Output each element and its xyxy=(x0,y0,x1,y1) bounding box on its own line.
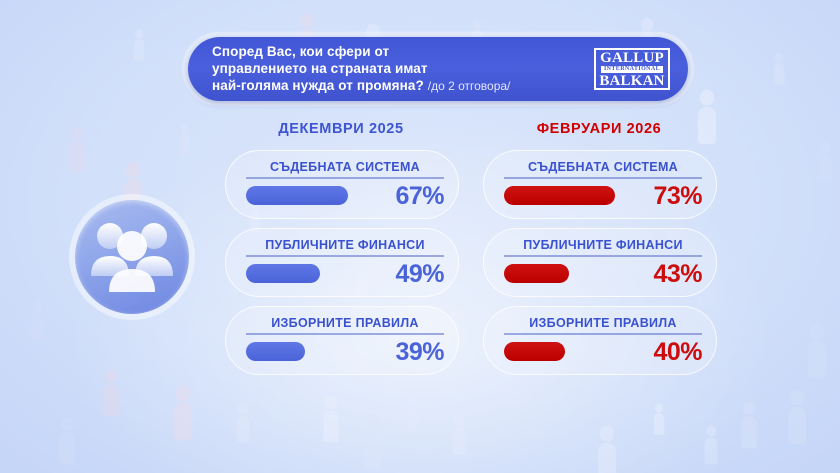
stat-card-row: 43% xyxy=(504,263,702,285)
people-group-icon xyxy=(75,200,189,314)
person-silhouette xyxy=(30,301,43,340)
person-silhouette xyxy=(103,370,119,417)
person-silhouette xyxy=(69,126,85,173)
person-silhouette xyxy=(654,403,665,435)
stat-card-divider xyxy=(246,333,444,335)
person-silhouette xyxy=(364,414,382,468)
stat-bar xyxy=(246,342,305,361)
person-silhouette xyxy=(408,397,419,429)
stat-value: 73% xyxy=(653,185,702,207)
stat-card-label: ИЗБОРНИТЕ ПРАВИЛА xyxy=(504,316,702,330)
stat-card-row: 40% xyxy=(504,341,702,363)
column-header-right: ФЕВРУАРИ 2026 xyxy=(483,121,715,137)
stat-bar xyxy=(504,264,569,283)
stat-card-right-2: ПУБЛИЧНИТЕ ФИНАНСИ43% xyxy=(483,228,717,297)
stat-value: 67% xyxy=(395,185,444,207)
person-silhouette xyxy=(452,415,465,454)
stat-card-divider xyxy=(504,255,702,257)
question-banner: Според Вас, кои сфери от управлението на… xyxy=(188,37,688,101)
infographic-slide: Според Вас, кои сфери от управлението на… xyxy=(0,0,840,473)
stat-value: 40% xyxy=(653,341,702,363)
stat-card-label: СЪДЕБНАТА СИСТЕМА xyxy=(246,160,444,174)
question-line-3-wrap: най-голяма нужда от промяна? /до 2 отгов… xyxy=(212,77,594,95)
person-silhouette xyxy=(598,426,616,473)
column-header-left: ДЕКЕМВРИ 2025 xyxy=(225,121,457,137)
stat-value: 43% xyxy=(653,263,702,285)
stat-card-divider xyxy=(246,255,444,257)
gallup-logo: GALLUP INTERNATIONAL BALKAN xyxy=(594,48,670,90)
logo-top-text: GALLUP xyxy=(600,51,664,65)
stat-value: 39% xyxy=(395,341,444,363)
person-silhouette xyxy=(788,390,806,444)
person-silhouette xyxy=(529,392,545,439)
stat-bar xyxy=(246,264,320,283)
person-silhouette xyxy=(704,425,717,464)
stat-bar xyxy=(246,186,348,205)
person-silhouette xyxy=(741,402,757,449)
person-silhouette xyxy=(180,123,191,155)
logo-middle-text: INTERNATIONAL xyxy=(601,66,663,73)
question-text: Според Вас, кои сфери от управлението на… xyxy=(212,43,594,95)
stat-card-label: ПУБЛИЧНИТЕ ФИНАНСИ xyxy=(246,238,444,252)
question-note: /до 2 отговора/ xyxy=(428,79,511,93)
stat-card-label: ИЗБОРНИТЕ ПРАВИЛА xyxy=(246,316,444,330)
person-silhouette xyxy=(134,29,145,61)
stat-card-right-3: ИЗБОРНИТЕ ПРАВИЛА40% xyxy=(483,306,717,375)
stat-bar xyxy=(504,186,615,205)
stat-card-divider xyxy=(246,177,444,179)
stat-card-row: 67% xyxy=(246,185,444,207)
stat-card-divider xyxy=(504,177,702,179)
person-silhouette xyxy=(323,396,339,443)
stat-value: 49% xyxy=(395,263,444,285)
person-silhouette xyxy=(174,386,192,440)
logo-bottom-text: BALKAN xyxy=(599,74,664,88)
person-silhouette xyxy=(774,53,785,85)
question-line-1: Според Вас, кои сфери от xyxy=(212,43,594,60)
question-line-3: най-голяма нужда от промяна? xyxy=(212,78,424,93)
question-line-2: управлението на страната имат xyxy=(212,60,594,77)
stat-card-right-1: СЪДЕБНАТА СИСТЕМА73% xyxy=(483,150,717,219)
stat-card-row: 39% xyxy=(246,341,444,363)
person-silhouette xyxy=(818,141,831,180)
person-silhouette xyxy=(59,418,75,465)
stat-card-left-2: ПУБЛИЧНИТЕ ФИНАНСИ49% xyxy=(225,228,459,297)
person-silhouette xyxy=(808,324,826,378)
stat-card-left-1: СЪДЕБНАТА СИСТЕМА67% xyxy=(225,150,459,219)
stat-card-label: СЪДЕБНАТА СИСТЕМА xyxy=(504,160,702,174)
stat-bar xyxy=(504,342,565,361)
people-badge xyxy=(75,200,189,314)
stat-card-divider xyxy=(504,333,702,335)
stat-card-left-3: ИЗБОРНИТЕ ПРАВИЛА39% xyxy=(225,306,459,375)
stat-card-row: 49% xyxy=(246,263,444,285)
person-silhouette xyxy=(236,403,249,442)
stat-card-row: 73% xyxy=(504,185,702,207)
stat-card-label: ПУБЛИЧНИТЕ ФИНАНСИ xyxy=(504,238,702,252)
person-silhouette xyxy=(198,305,209,337)
